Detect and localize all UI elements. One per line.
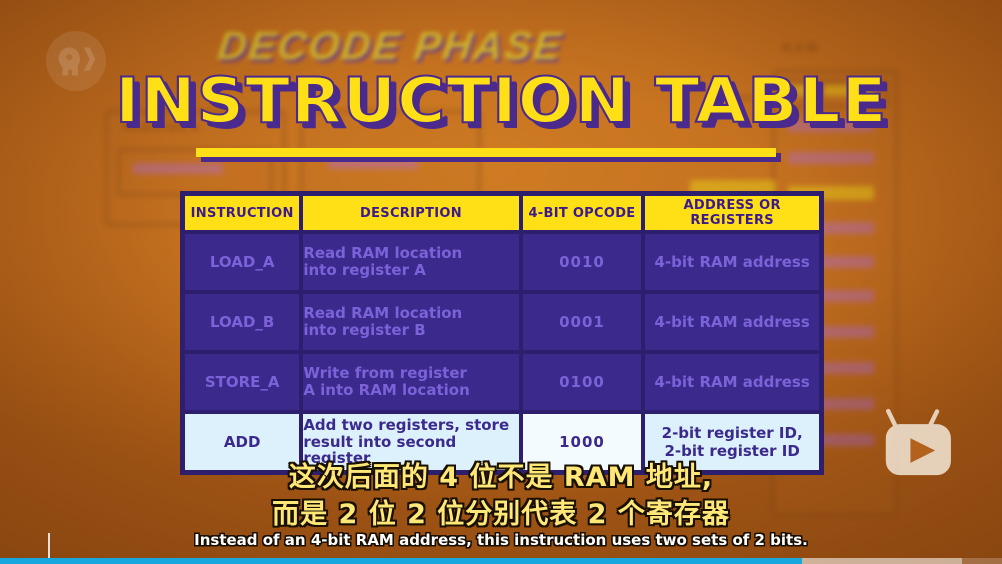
cell-address-line1: 2-bit register ID, [645,424,819,442]
title-underline [196,148,776,157]
playhead-cursor [48,533,50,561]
page-title: INSTRUCTION TABLE [0,70,1002,132]
video-frame: REGISTER A RAM REGISTERS DECODE PHA [0,0,1002,564]
table-row: STORE_A Write from register A into RAM l… [183,352,821,412]
progress-bar[interactable] [0,558,1002,564]
cell-description-line1: Read RAM location [303,305,518,322]
progress-played [0,558,802,564]
cell-description-line2: A into RAM location [303,382,518,399]
column-header-instruction: INSTRUCTION [183,194,301,232]
cell-description-line1: Read RAM location [303,245,518,262]
cell-address: 4-bit RAM address [643,232,821,292]
instruction-table: INSTRUCTION DESCRIPTION 4-BIT OPCODE ADD… [183,194,821,472]
cell-opcode: 0100 [521,352,644,412]
subtitle-chinese-line2: 而是 2 位 2 位分别代表 2 个寄存器 [0,492,1002,531]
cell-description-line2: into register B [303,322,518,339]
cell-instruction: STORE_A [183,352,301,412]
subtitle-english: Instead of an 4-bit RAM address, this in… [0,531,1002,549]
table-header-row: INSTRUCTION DESCRIPTION 4-BIT OPCODE ADD… [183,194,821,232]
cell-description-line2: into register A [303,262,518,279]
cell-address: 4-bit RAM address [643,292,821,352]
cell-address: 4-bit RAM address [643,352,821,412]
table-row: LOAD_A Read RAM location into register A… [183,232,821,292]
cell-instruction: LOAD_A [183,232,301,292]
cell-instruction: LOAD_B [183,292,301,352]
cell-description-line1: Add two registers, store [303,417,518,434]
cell-opcode: 0001 [521,292,644,352]
cell-description-line1: Write from register [303,365,518,382]
cell-description: Read RAM location into register A [301,232,520,292]
cell-opcode: 0010 [521,232,644,292]
column-header-description: DESCRIPTION [301,194,520,232]
page-title-text: INSTRUCTION TABLE [115,70,887,132]
subtitle-chinese-line1: 这次后面的 4 位不是 RAM 地址, [0,455,1002,494]
column-header-address: ADDRESS OR REGISTERS [643,194,821,232]
cell-description: Write from register A into RAM location [301,352,520,412]
table-row: LOAD_B Read RAM location into register B… [183,292,821,352]
column-header-opcode: 4-BIT OPCODE [521,194,644,232]
cell-description: Read RAM location into register B [301,292,520,352]
